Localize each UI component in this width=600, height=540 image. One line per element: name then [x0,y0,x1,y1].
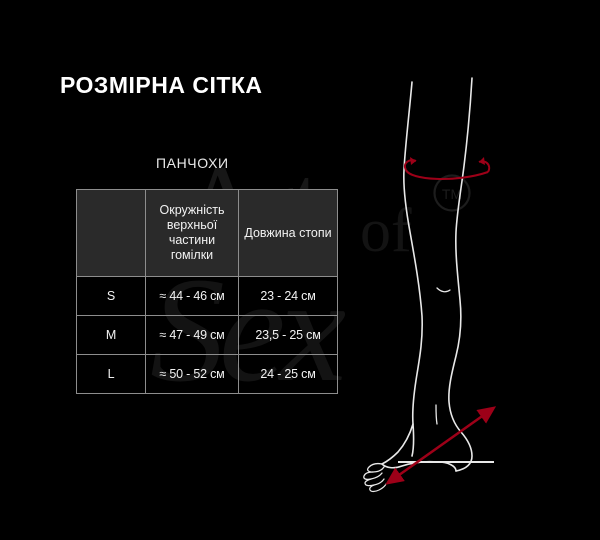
foot-length-measure-arrow [392,412,488,480]
page-title: РОЗМІРНА СІТКА [60,72,263,99]
header-cell-foot-length: Довжина стопи [239,190,338,277]
header-cell-size [77,190,146,277]
size-table: Окружність верхньої частини гомілки Довж… [76,189,338,394]
cell-circumference: ≈ 50 - 52 см [146,355,239,394]
table-header-row: Окружність верхньої частини гомілки Довж… [77,190,338,277]
table-row: S ≈ 44 - 46 см 23 - 24 см [77,277,338,316]
header-cell-circumference: Окружність верхньої частини гомілки [146,190,239,277]
table-row: M ≈ 47 - 49 см 23,5 - 25 см [77,316,338,355]
leg-illustration: TM [360,20,600,520]
cell-size: S [77,277,146,316]
cell-circumference: ≈ 44 - 46 см [146,277,239,316]
table-header: Окружність верхньої частини гомілки Довж… [77,190,338,277]
table-body: S ≈ 44 - 46 см 23 - 24 см M ≈ 47 - 49 см… [77,277,338,394]
size-chart-page: Art of Sex РОЗМІРНА СІТКА ПАНЧОХИ Окружн… [0,0,600,540]
cell-foot-length: 23 - 24 см [239,277,338,316]
cell-size: L [77,355,146,394]
trademark-watermark-icon: TM [435,176,470,211]
leg-outline [364,78,472,492]
cell-circumference: ≈ 47 - 49 см [146,316,239,355]
cell-foot-length: 23,5 - 25 см [239,316,338,355]
table-row: L ≈ 50 - 52 см 24 - 25 см [77,355,338,394]
section-title: ПАНЧОХИ [156,155,229,171]
cell-size: M [77,316,146,355]
cell-foot-length: 24 - 25 см [239,355,338,394]
